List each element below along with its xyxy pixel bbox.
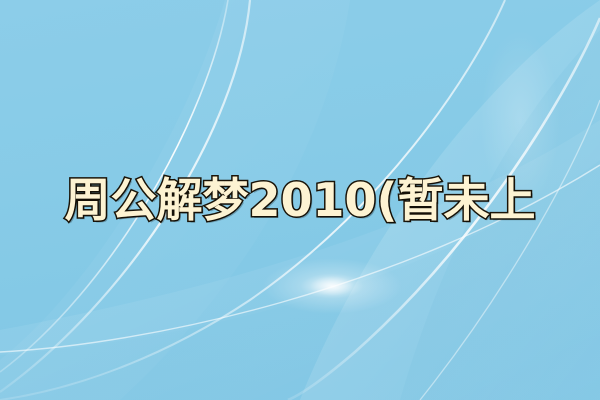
background-decoration xyxy=(0,0,600,400)
banner-image: 周公解梦2010(暂未上 xyxy=(0,0,600,400)
